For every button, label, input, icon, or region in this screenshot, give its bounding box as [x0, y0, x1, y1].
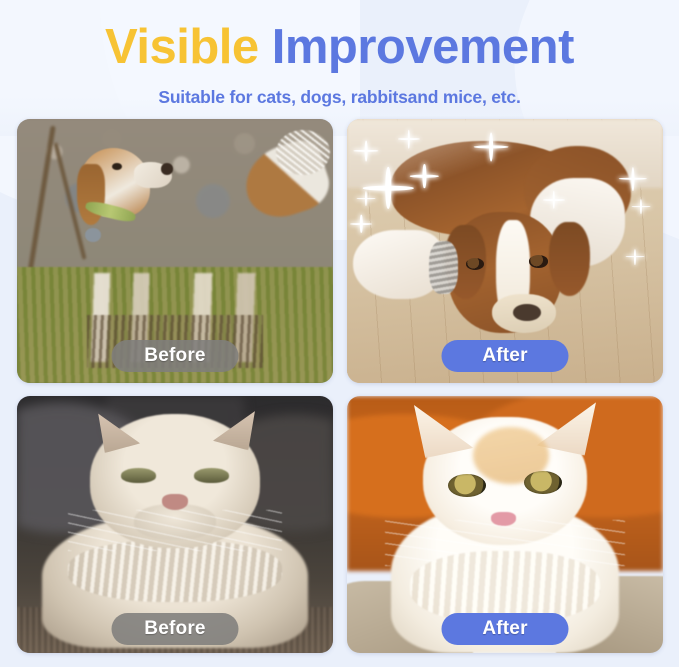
cat-eye-left: [121, 468, 156, 482]
cat-whiskers: [68, 510, 283, 551]
comparison-grid: Before: [0, 108, 679, 653]
badge-before: Before: [112, 613, 239, 645]
badge-after: After: [442, 613, 569, 645]
panel-cat-before: Before: [17, 396, 333, 653]
page-header: Visible Improvement Suitable for cats, d…: [0, 0, 679, 108]
dog-tail-feather: [276, 130, 330, 175]
page-title-highlight: Visible: [105, 20, 259, 74]
badge-after: After: [442, 340, 569, 372]
page-title: Visible Improvement: [0, 22, 679, 73]
cat-eye-left: [448, 474, 486, 497]
dog-nose: [161, 163, 174, 175]
page-title-rest: Improvement: [272, 20, 574, 74]
cat-eye-right: [524, 471, 562, 494]
dog-collar-tag: [85, 228, 101, 243]
dog-chain-collar: [429, 241, 457, 294]
dog-eye-right: [529, 255, 548, 267]
cat-eye-right: [194, 468, 229, 482]
badge-before: Before: [112, 340, 239, 372]
panel-dog-after: After: [347, 119, 663, 383]
cat-nose: [162, 494, 187, 509]
panel-dog-before: Before: [17, 119, 333, 383]
panel-cat-after: After: [347, 396, 663, 653]
page-subtitle: Suitable for cats, dogs, rabbitsand mice…: [0, 87, 679, 108]
cat-chest-ruff: [410, 551, 600, 623]
